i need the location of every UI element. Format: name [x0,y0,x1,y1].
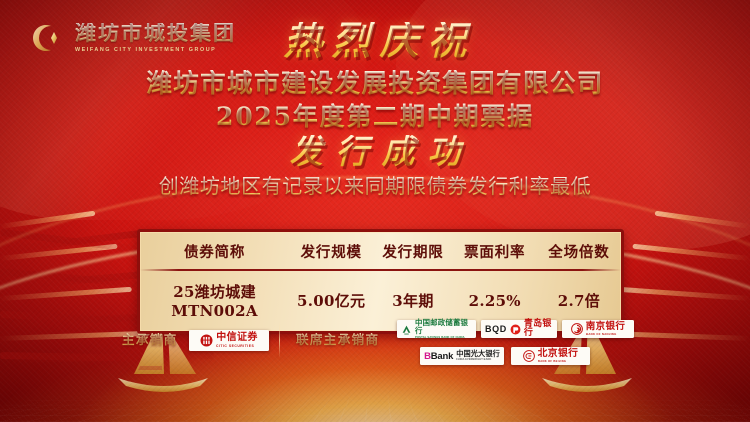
celebration-poster: 潍坊市城投集团 WEIFANG CITY INVESTMENT GROUP 热烈… [0,0,750,422]
logo-nanjing-en: BANK OF NANJING [586,333,622,336]
logo-psbc-en: POSTAL SAVINGS BANK OF CHINA [415,336,467,339]
headline-celebrate: 热烈庆祝 [0,22,750,61]
table-header-cell: 发行规模 [289,232,373,269]
bqd-emblem-icon [510,324,521,335]
beijing-emblem-icon [523,350,535,362]
lead-underwriter-label: 主承销商 [122,329,178,348]
logo-bqd-cn: 青岛银行 [524,320,553,338]
table-header-cell: 发行期限 [373,232,452,269]
logo-bank-of-nanjing: 南京银行 BANK OF NANJING [562,320,634,338]
logo-psbc-cn: 中国邮政储蓄银行 [415,319,472,334]
table-header-cell: 票面利率 [453,232,537,269]
logo-china-everbright-bank: BBank 中国光大银行 CHINA EVERBRIGHT BANK [420,347,504,365]
underwriter-strip: 主承销商 联席主承销商 [0,320,750,380]
table-header-cell: 全场倍数 [537,232,621,269]
logo-nanjing-cn: 南京银行 [586,322,626,332]
logo-everbright-abbr: BBank [424,351,453,362]
logo-bqd-abbr: BQD [485,324,507,334]
logo-beijing-cn: 北京银行 [538,349,579,359]
logo-postal-savings-bank: 中国邮政储蓄银行 POSTAL SAVINGS BANK OF CHINA [397,320,476,338]
logo-everbright-cn: 中国光大银行 [456,350,500,357]
everbright-b-glyph: B [424,351,431,362]
logo-bank-of-beijing: 北京银行 BANK OF BEIJING [511,347,590,365]
everbright-abbr-text: Bank [431,351,453,362]
headline-company: 潍坊市城市建设发展投资集团有限公司 [0,70,750,99]
underwriter-divider [279,322,280,358]
headline-block: 热烈庆祝 潍坊市城市建设发展投资集团有限公司 2025年度第二期中期票据 发行成… [0,22,750,199]
perspective-grid [0,390,750,422]
logo-citic-en: CITIC SECURITIES [216,345,254,348]
logo-beijing-en: BANK OF BEIJING [538,360,576,363]
logo-everbright-en: CHINA EVERBRIGHT BANK [456,359,496,361]
nanjing-emblem-icon [571,323,583,335]
logo-bank-of-qingdao: BQD 青岛银行 [481,320,557,338]
headline-note: 创潍坊地区有记录以来同期限债券发行利率最低 [0,176,750,199]
headline-success: 发行成功 [0,135,750,168]
table-header-row: 债券简称 发行规模 发行期限 票面利率 全场倍数 [140,232,621,269]
headline-issue: 2025年度第二期中期票据 [0,103,750,132]
table-header-cell: 债券简称 [140,232,289,269]
citic-emblem-icon [200,334,213,347]
psbc-emblem-icon [401,324,412,335]
joint-underwriter-label: 联席主承销商 [296,329,379,348]
logo-citic-cn: 中信证券 [216,333,258,343]
logo-citic-securities: 中信证券 CITIC SECURITIES [189,330,269,351]
